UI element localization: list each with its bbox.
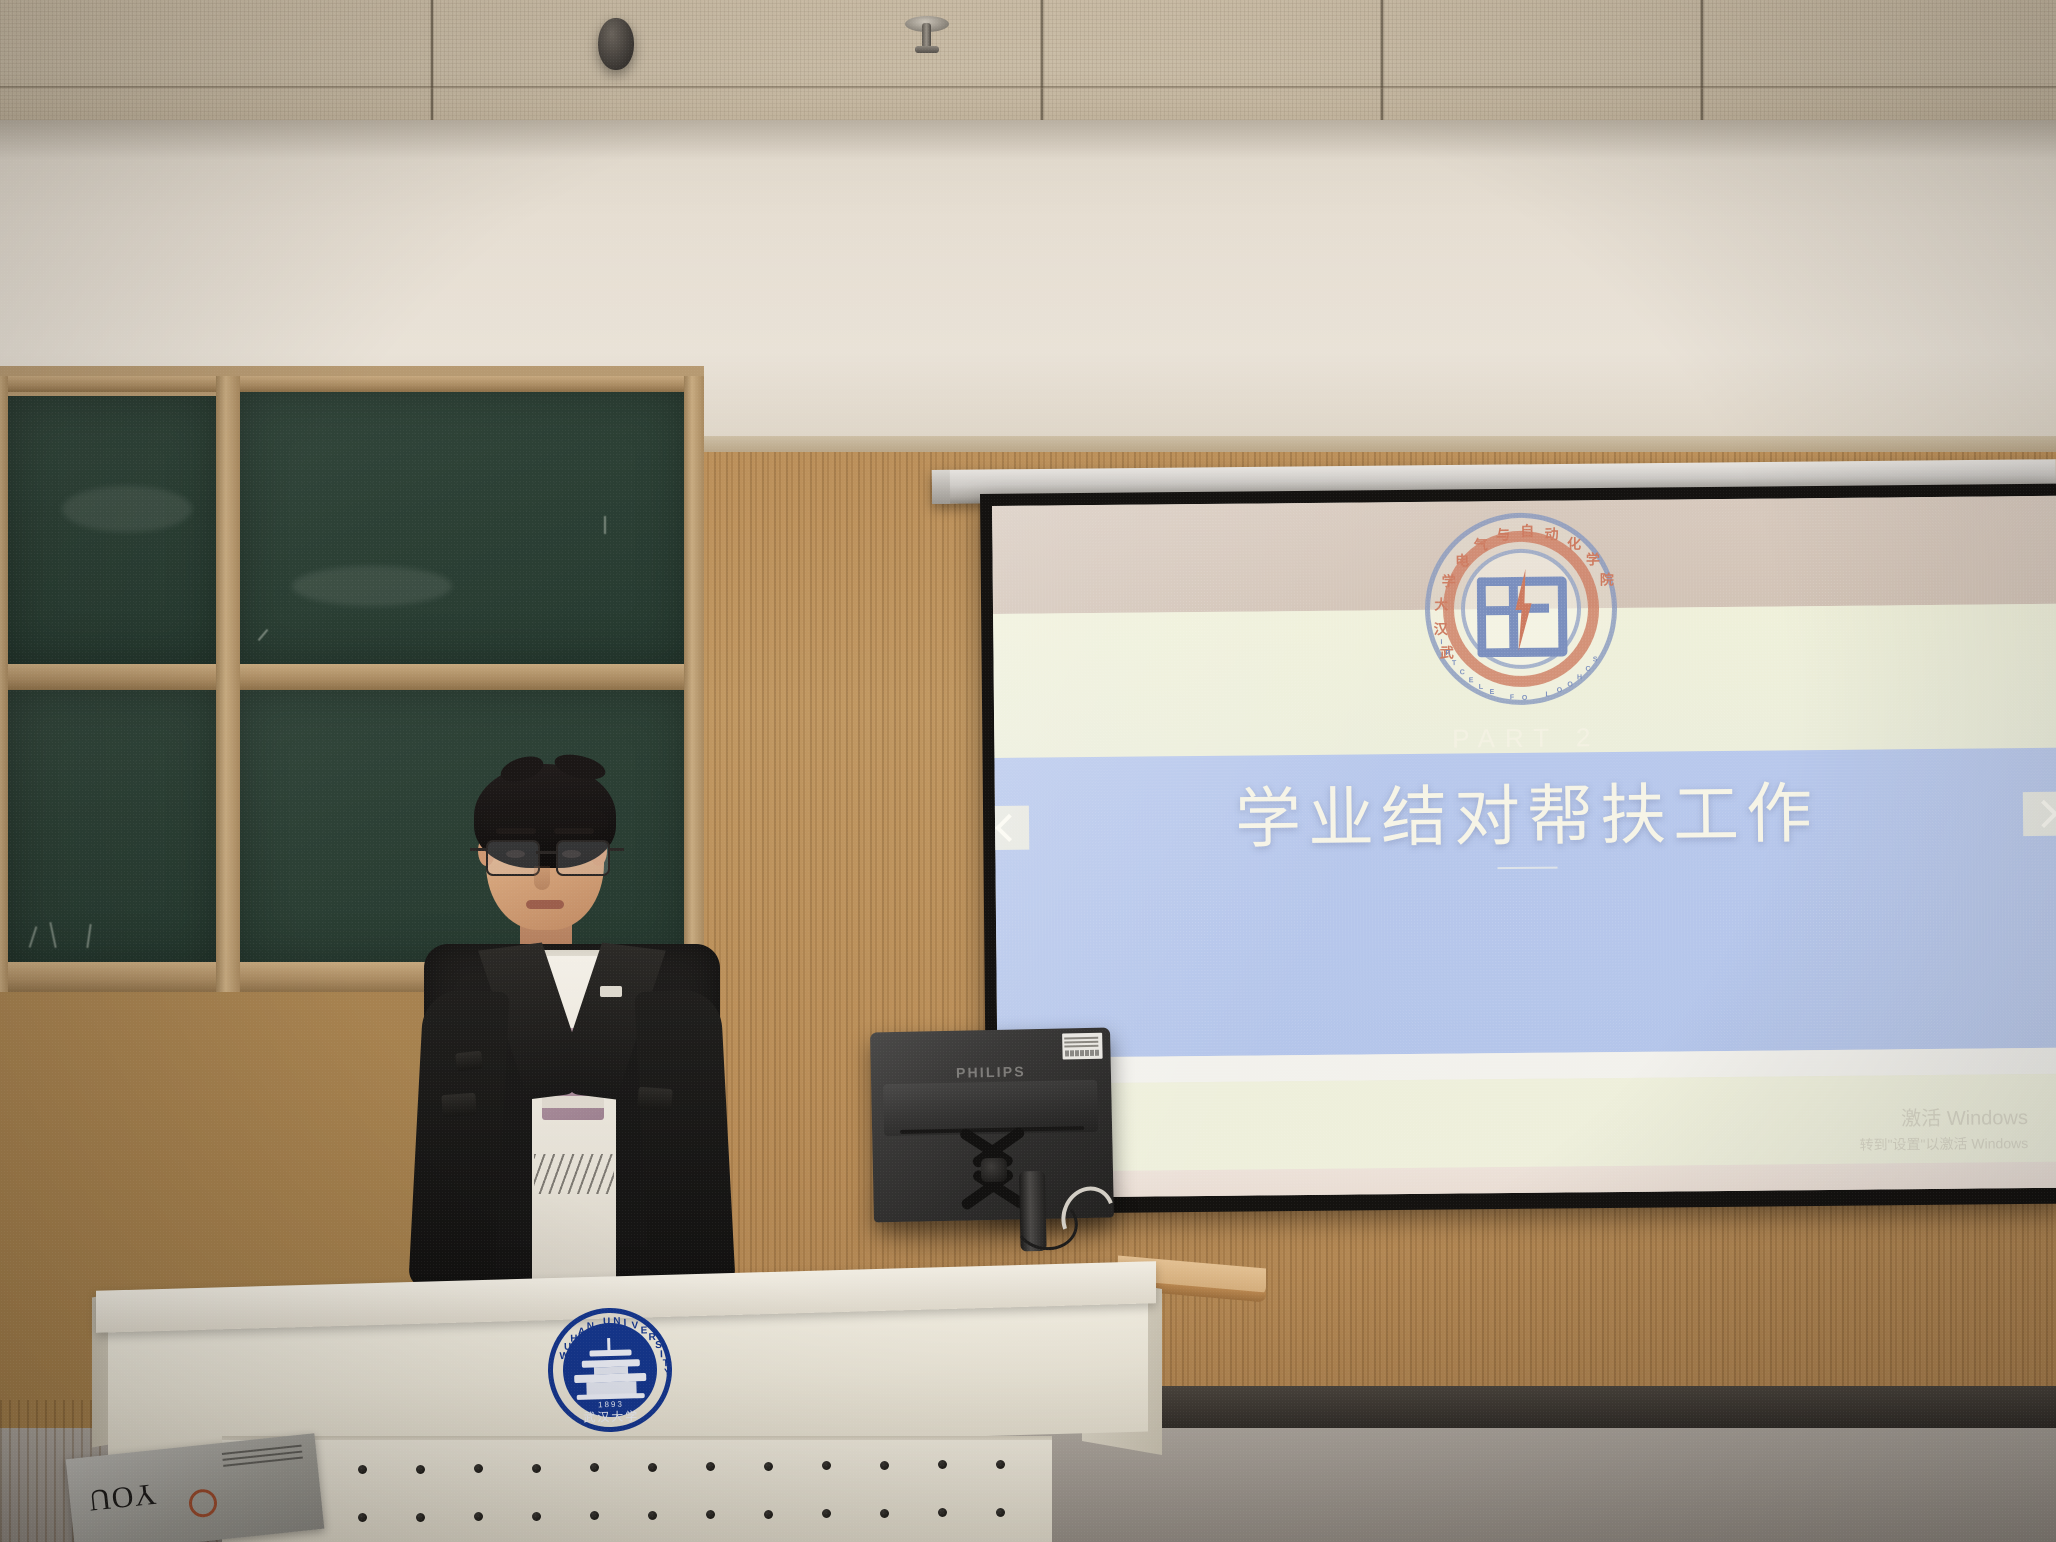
- chalkboard-divider: [216, 376, 240, 992]
- watermark-line-1: 激活 Windows: [1698, 1104, 2028, 1136]
- projected-slide: 武 汉 大 学 电 气 与 自 动 化 学 院 S C H O O L O: [992, 496, 2056, 1198]
- jacket-pocket-right: [637, 1087, 672, 1111]
- screen-housing-cap: [932, 470, 950, 504]
- barcode-icon: [1065, 1050, 1098, 1057]
- ceiling-speaker-icon: [598, 18, 634, 70]
- jacket-brand-tag: [600, 986, 622, 997]
- poster-badge-icon: [188, 1488, 219, 1519]
- wall-shadow: [0, 120, 2056, 160]
- chalkboard-rail: [0, 376, 704, 392]
- jacket-sleeve-left: [408, 988, 510, 1292]
- watermark-line-2: 转到"设置"以激活 Windows: [1698, 1133, 2028, 1156]
- ceiling-panels: [0, 0, 2056, 128]
- nose: [534, 866, 550, 890]
- eyebrow-left: [496, 828, 536, 834]
- chevron-left-icon: [994, 814, 1022, 842]
- eyebrow-right: [554, 828, 594, 834]
- ceiling-seam: [1700, 0, 1704, 128]
- podium-base-panel: [222, 1440, 1052, 1542]
- chalkboard-rail: [0, 664, 704, 690]
- poster-text: YOU: [86, 1476, 157, 1517]
- wuhan-university-seal-icon: W U H A N U N I V E R S I T Y 1893 武汉大学: [546, 1306, 673, 1433]
- hair-fringe: [482, 800, 608, 842]
- chalkboard-panel: [236, 388, 688, 666]
- slide-prev-button[interactable]: [992, 806, 1029, 850]
- ceiling-seam: [0, 86, 2056, 89]
- fire-sprinkler-icon: [905, 10, 949, 60]
- torso: [424, 944, 720, 1294]
- windows-activation-watermark: 激活 Windows 转到"设置"以激活 Windows: [1698, 1104, 2028, 1156]
- ceiling-texture: [0, 0, 2056, 128]
- monitor-asset-label: [1062, 1033, 1103, 1060]
- slide-next-button[interactable]: [2023, 792, 2056, 836]
- tshirt-print-lines: [534, 1154, 614, 1194]
- school-logo-icon: 武 汉 大 学 电 气 与 自 动 化 学 院 S C H O O L O: [1424, 512, 1618, 706]
- vent-hole-row: [222, 1512, 1052, 1524]
- classroom-photo: 三星银幕 武 汉 大 学 电 气 与 自 动 化 学: [0, 0, 2056, 1542]
- vent-hole-row: [222, 1464, 1052, 1476]
- jacket-pocket-left: [441, 1093, 476, 1117]
- chalkboard-panel: [6, 688, 218, 966]
- mouth: [526, 900, 564, 909]
- ceiling-seam: [1040, 0, 1044, 128]
- poster-text-lines: [222, 1445, 303, 1471]
- slide-title: 学业结对帮扶工作: [995, 758, 2056, 864]
- jacket-sleeve-right: [634, 988, 736, 1292]
- logo-monogram: [1475, 570, 1568, 647]
- seal-chinese-text: 武汉大学: [549, 1406, 673, 1426]
- ceiling-seam: [430, 0, 434, 128]
- ceiling-seam: [1380, 0, 1384, 128]
- jacket-flap: [455, 1051, 483, 1072]
- chevron-right-icon: [2029, 800, 2056, 828]
- pagoda-icon: [573, 1347, 646, 1401]
- chalkboard-edge: [0, 376, 8, 992]
- presenter: [404, 748, 734, 1288]
